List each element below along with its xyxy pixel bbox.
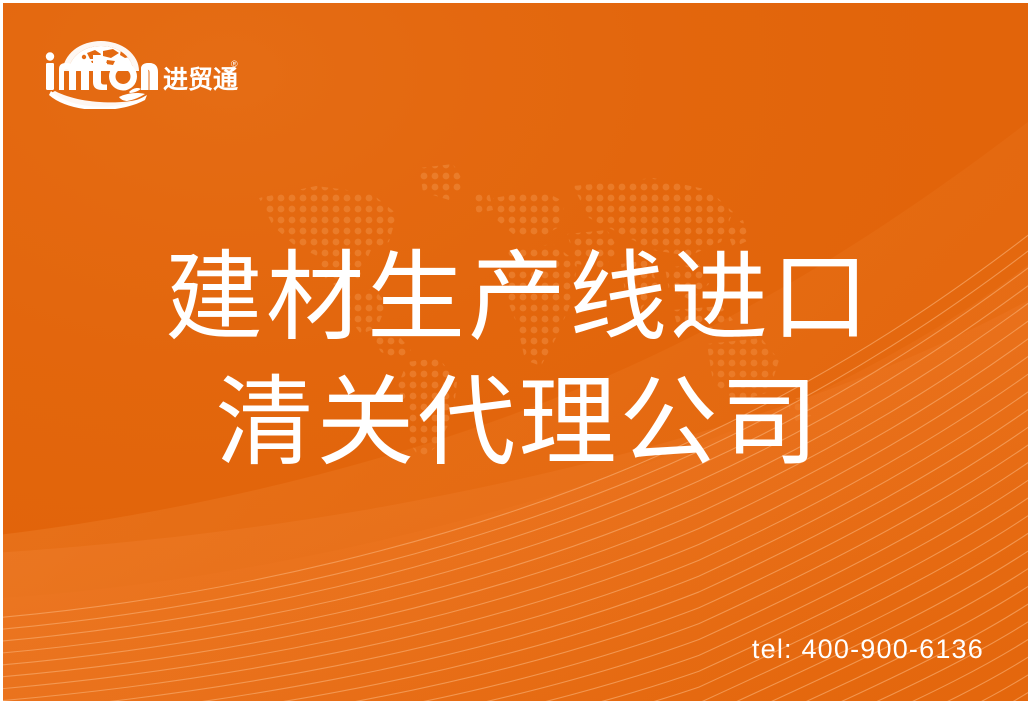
contact-telephone: tel: 400-900-6136 xyxy=(752,634,984,665)
dolphin-swoosh-icon xyxy=(49,88,147,109)
headline-line-1: 建材生产线进口 xyxy=(3,235,1031,360)
logo-wordmark-cn: 进贸通 xyxy=(163,66,238,94)
registered-trademark-icon: ® xyxy=(231,59,238,69)
headline-line-2: 清关代理公司 xyxy=(3,360,1031,485)
headline-block: 建材生产线进口 清关代理公司 xyxy=(3,235,1031,486)
brand-logo[interactable]: 进贸通 ® xyxy=(41,31,241,109)
promo-banner: 进贸通 ® 建材生产线进口 清关代理公司 tel: 400-900-6136 xyxy=(0,0,1031,704)
